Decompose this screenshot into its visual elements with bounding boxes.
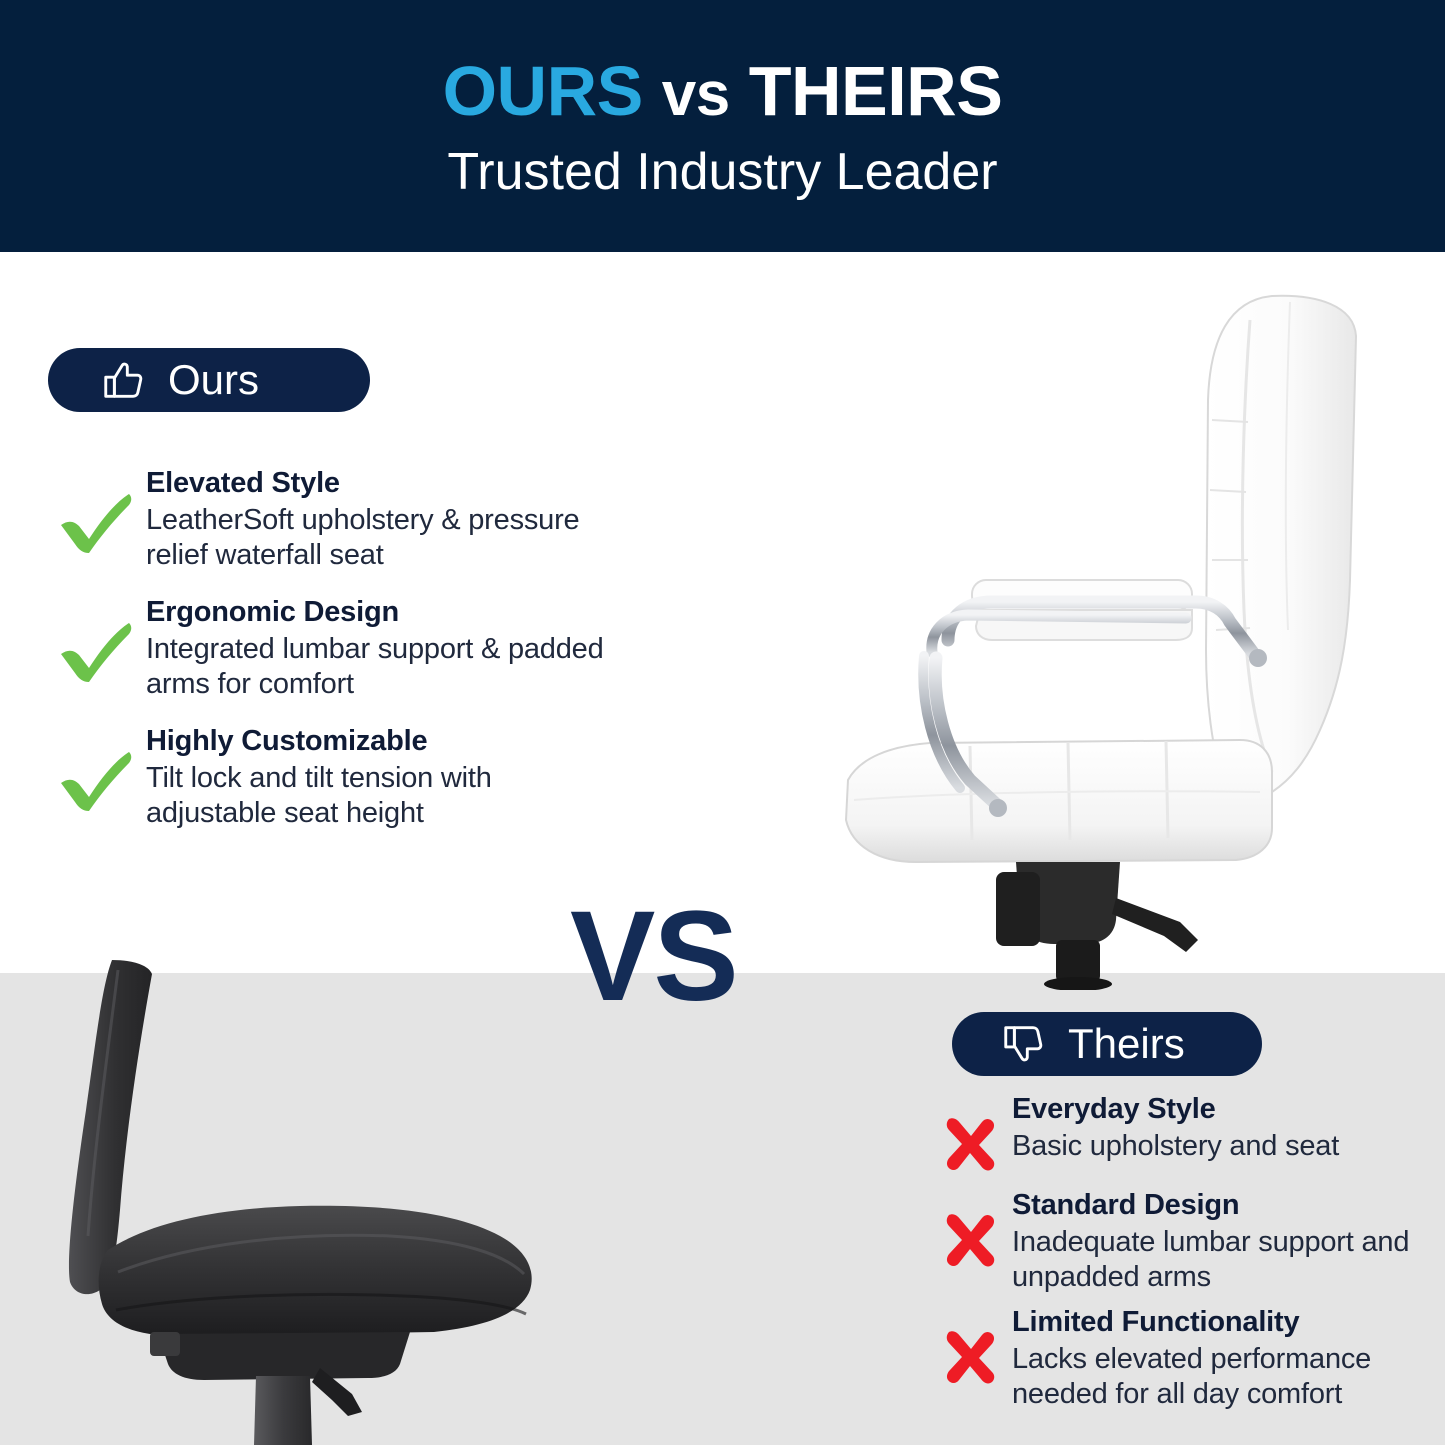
vs-divider-label: VS: [570, 893, 737, 1021]
thumbs-down-icon: [1000, 1021, 1046, 1067]
green-check-icon: [48, 466, 146, 566]
red-x-icon: [930, 1188, 1012, 1274]
feature-description: Lacks elevated performance needed for al…: [1012, 1342, 1435, 1412]
feature-text: Highly Customizable Tilt lock and tilt t…: [146, 724, 608, 831]
feature-text: Elevated Style LeatherSoft upholstery & …: [146, 466, 608, 573]
feature-description: Integrated lumbar support & padded arms …: [146, 632, 608, 702]
list-item: Standard Design Inadequate lumbar suppor…: [930, 1188, 1435, 1295]
list-item: Limited Functionality Lacks elevated per…: [930, 1305, 1435, 1412]
comparison-infographic: OURS vs THEIRS Trusted Industry Leader: [0, 0, 1445, 1445]
feature-title: Limited Functionality: [1012, 1305, 1435, 1340]
feature-title: Standard Design: [1012, 1188, 1435, 1223]
feature-title: Ergonomic Design: [146, 595, 608, 630]
list-item: Ergonomic Design Integrated lumbar suppo…: [48, 595, 608, 702]
header-banner: OURS vs THEIRS Trusted Industry Leader: [0, 0, 1445, 252]
feature-description: Tilt lock and tilt tension with adjustab…: [146, 761, 608, 831]
list-item: Highly Customizable Tilt lock and tilt t…: [48, 724, 608, 831]
red-x-icon: [930, 1305, 1012, 1391]
list-item: Elevated Style LeatherSoft upholstery & …: [48, 466, 608, 573]
green-check-icon: [48, 724, 146, 824]
red-x-icon: [930, 1092, 1012, 1178]
title-theirs-word: THEIRS: [749, 52, 1003, 130]
page-title: OURS vs THEIRS: [443, 56, 1003, 127]
list-item: Everyday Style Basic upholstery and seat: [930, 1092, 1435, 1178]
feature-title: Everyday Style: [1012, 1092, 1435, 1127]
feature-description: Inadequate lumbar support and unpadded a…: [1012, 1225, 1435, 1295]
feature-text: Standard Design Inadequate lumbar suppor…: [1012, 1188, 1435, 1295]
title-vs-word: vs: [662, 60, 730, 129]
feature-description: Basic upholstery and seat: [1012, 1129, 1435, 1164]
theirs-feature-list: Everyday Style Basic upholstery and seat…: [930, 1092, 1435, 1422]
theirs-badge-label: Theirs: [1068, 1023, 1185, 1065]
feature-title: Highly Customizable: [146, 724, 608, 759]
title-ours-word: OURS: [443, 52, 643, 130]
ours-product-image: [820, 280, 1440, 990]
page-subtitle: Trusted Industry Leader: [447, 142, 997, 202]
thumbs-up-icon: [100, 357, 146, 403]
feature-title: Elevated Style: [146, 466, 608, 501]
feature-description: LeatherSoft upholstery & pressure relief…: [146, 503, 608, 573]
green-check-icon: [48, 595, 146, 695]
ours-badge: Ours: [48, 348, 370, 412]
ours-badge-label: Ours: [168, 359, 259, 401]
feature-text: Everyday Style Basic upholstery and seat: [1012, 1092, 1435, 1164]
feature-text: Ergonomic Design Integrated lumbar suppo…: [146, 595, 608, 702]
feature-text: Limited Functionality Lacks elevated per…: [1012, 1305, 1435, 1412]
theirs-product-image: [0, 960, 630, 1445]
theirs-badge: Theirs: [952, 1012, 1262, 1076]
ours-feature-list: Elevated Style LeatherSoft upholstery & …: [48, 466, 608, 853]
